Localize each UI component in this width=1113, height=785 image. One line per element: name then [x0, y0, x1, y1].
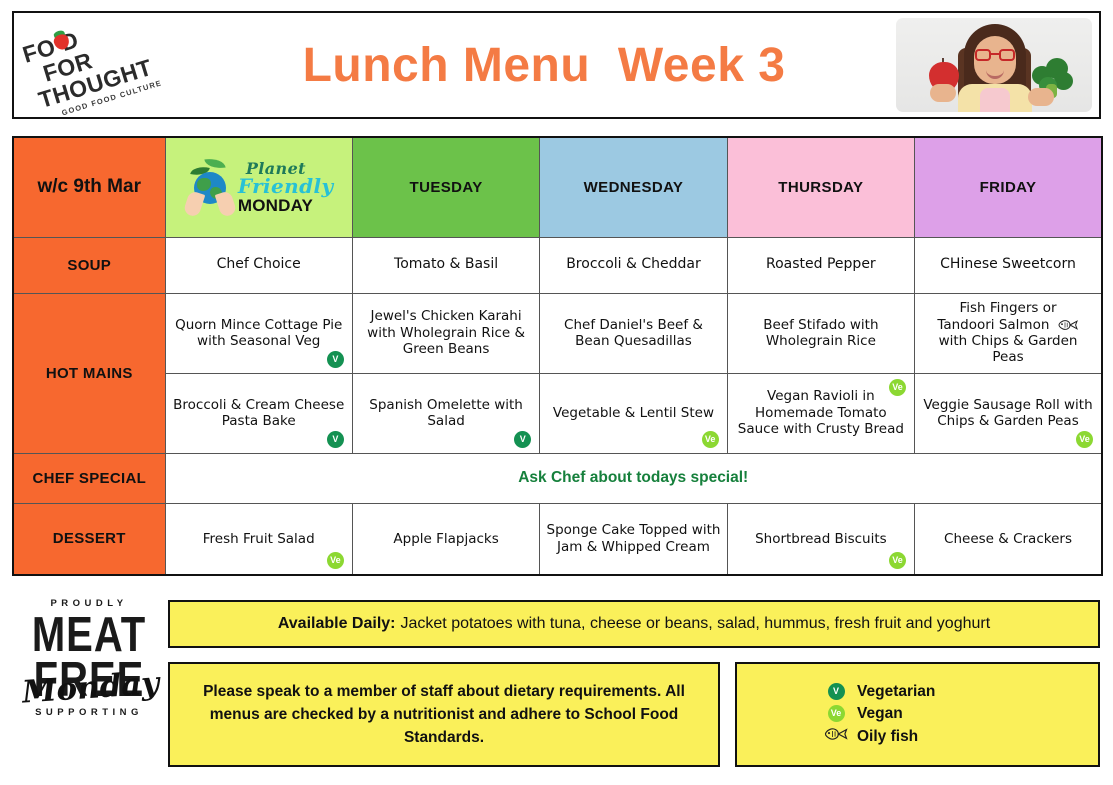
- legend-label-vegetarian: Vegetarian: [857, 683, 935, 701]
- row-label-dessert: DESSERT: [13, 503, 165, 575]
- vegan-badge: Ve: [889, 552, 906, 569]
- row-label-chef-special: CHEF SPECIAL: [13, 453, 165, 503]
- oily-fish-icon: [1057, 319, 1079, 331]
- oily-fish-icon: [815, 727, 857, 746]
- legend-item-vegetarian: V Vegetarian: [815, 683, 1020, 701]
- day-header-row: w/c 9th Mar Planet Friendly MONDAY TUESD…: [13, 137, 1102, 237]
- meat-free-monday-logo: PROUDLY MEAT FREE SUPPORTING Monday: [14, 592, 164, 774]
- dietary-note-text: Please speak to a member of staff about …: [184, 680, 704, 750]
- dietary-requirements-note: Please speak to a member of staff about …: [168, 662, 720, 767]
- food-for-thought-logo: FO D FOR THOUGHT GOOD FOOD CULTURE: [14, 13, 182, 117]
- dessert-monday: Fresh Fruit Salad Ve: [165, 503, 352, 575]
- menu-title-text: Lunch Menu Week 3: [192, 38, 896, 93]
- dessert-row: DESSERT Fresh Fruit Salad Ve Apple Flapj…: [13, 503, 1102, 575]
- globe-in-hands-icon: [184, 156, 236, 218]
- main2-friday-text: Veggie Sausage Roll with Chips & Garden …: [923, 397, 1092, 429]
- week-commencing-label: w/c 9th Mar: [13, 137, 165, 237]
- soup-thursday: Roasted Pepper: [727, 237, 914, 293]
- dessert-wednesday: Sponge Cake Topped with Jam & Whipped Cr…: [540, 503, 727, 575]
- glasses-icon: [974, 49, 1016, 61]
- main2-monday: Broccoli & Cream Cheese Pasta Bake V: [165, 373, 352, 453]
- main1-monday: Quorn Mince Cottage Pie with Seasonal Ve…: [165, 293, 352, 373]
- chef-special-text: Ask Chef about todays special!: [165, 453, 1102, 503]
- main2-thursday-text: Vegan Ravioli in Homemade Tomato Sauce w…: [738, 388, 904, 437]
- main1-friday: Fish Fingers orTandoori Salmon with Chip…: [915, 293, 1102, 373]
- main2-tuesday-text: Spanish Omelette with Salad: [369, 397, 523, 429]
- main2-monday-text: Broccoli & Cream Cheese Pasta Bake: [173, 397, 344, 429]
- dessert-thursday: Shortbread Biscuits Ve: [727, 503, 914, 575]
- day-header-monday: Planet Friendly MONDAY: [165, 137, 352, 237]
- day-header-thursday: THURSDAY: [727, 137, 914, 237]
- main2-wednesday-text: Vegetable & Lentil Stew: [553, 405, 714, 421]
- soup-monday: Chef Choice: [165, 237, 352, 293]
- dessert-friday: Cheese & Crackers: [915, 503, 1102, 575]
- vegan-badge: Ve: [1076, 431, 1093, 448]
- soup-tuesday: Tomato & Basil: [352, 237, 539, 293]
- legend-item-vegan: Ve Vegan: [815, 705, 1020, 723]
- main2-friday: Veggie Sausage Roll with Chips & Garden …: [915, 373, 1102, 453]
- main2-thursday: Vegan Ravioli in Homemade Tomato Sauce w…: [727, 373, 914, 453]
- vegan-badge: Ve: [889, 379, 906, 396]
- available-daily-banner: Available Daily: Jacket potatoes with tu…: [168, 600, 1100, 648]
- diet-legend: V Vegetarian Ve Vegan Oily fish: [735, 662, 1100, 767]
- main2-wednesday: Vegetable & Lentil Stew Ve: [540, 373, 727, 453]
- row-label-soup: SOUP: [13, 237, 165, 293]
- main1-thursday: Beef Stifado with Wholegrain Rice: [727, 293, 914, 373]
- vegetarian-badge: V: [327, 351, 344, 368]
- dessert-tuesday: Apple Flapjacks: [352, 503, 539, 575]
- day-header-wednesday: WEDNESDAY: [540, 137, 727, 237]
- available-daily-text: Jacket potatoes with tuna, cheese or bea…: [401, 615, 991, 633]
- vegetarian-badge: V: [327, 431, 344, 448]
- main1-tuesday: Jewel's Chicken Karahi with Wholegrain R…: [352, 293, 539, 373]
- brand-word-monday: MONDAY: [238, 197, 334, 214]
- vegetarian-badge: V: [514, 431, 531, 448]
- page-title: Lunch Menu Week 3: [182, 38, 896, 93]
- main2-tuesday: Spanish Omelette with Salad V: [352, 373, 539, 453]
- brand-word-friendly: Friendly: [238, 176, 334, 196]
- day-header-friday: FRIDAY: [915, 137, 1102, 237]
- soup-friday: CHinese Sweetcorn: [915, 237, 1102, 293]
- header-bar: FO D FOR THOUGHT GOOD FOOD CULTURE Lunch…: [12, 11, 1101, 119]
- planet-friendly-monday-logo: Planet Friendly MONDAY: [167, 139, 351, 236]
- day-header-tuesday: TUESDAY: [352, 137, 539, 237]
- dessert-monday-text: Fresh Fruit Salad: [203, 531, 315, 547]
- logo-arc-bottom: SUPPORTING: [14, 707, 164, 718]
- header-photo: [896, 18, 1092, 112]
- hot-mains-row-2: Broccoli & Cream Cheese Pasta Bake V Spa…: [13, 373, 1102, 453]
- dessert-thursday-text: Shortbread Biscuits: [755, 531, 887, 547]
- row-label-hot-mains: HOT MAINS: [13, 293, 165, 453]
- vegan-badge: Ve: [327, 552, 344, 569]
- chef-special-row: CHEF SPECIAL Ask Chef about todays speci…: [13, 453, 1102, 503]
- available-daily-label: Available Daily:: [278, 615, 396, 633]
- hot-mains-row-1: HOT MAINS Quorn Mince Cottage Pie with S…: [13, 293, 1102, 373]
- vegan-badge: Ve: [815, 705, 857, 723]
- main1-monday-text: Quorn Mince Cottage Pie with Seasonal Ve…: [175, 317, 342, 349]
- logo-word-meat: MEAT: [14, 612, 164, 659]
- logo-word-free: FREE: [14, 657, 164, 704]
- legend-label-oily-fish: Oily fish: [857, 728, 918, 746]
- soup-wednesday: Broccoli & Cheddar: [540, 237, 727, 293]
- legend-label-vegan: Vegan: [857, 705, 903, 723]
- vegetarian-badge: V: [815, 683, 857, 701]
- menu-table: w/c 9th Mar Planet Friendly MONDAY TUESD…: [12, 136, 1103, 576]
- soup-row: SOUP Chef Choice Tomato & Basil Broccoli…: [13, 237, 1102, 293]
- main1-wednesday: Chef Daniel's Beef & Bean Quesadillas: [540, 293, 727, 373]
- legend-item-oily-fish: Oily fish: [815, 727, 1020, 746]
- vegan-badge: Ve: [702, 431, 719, 448]
